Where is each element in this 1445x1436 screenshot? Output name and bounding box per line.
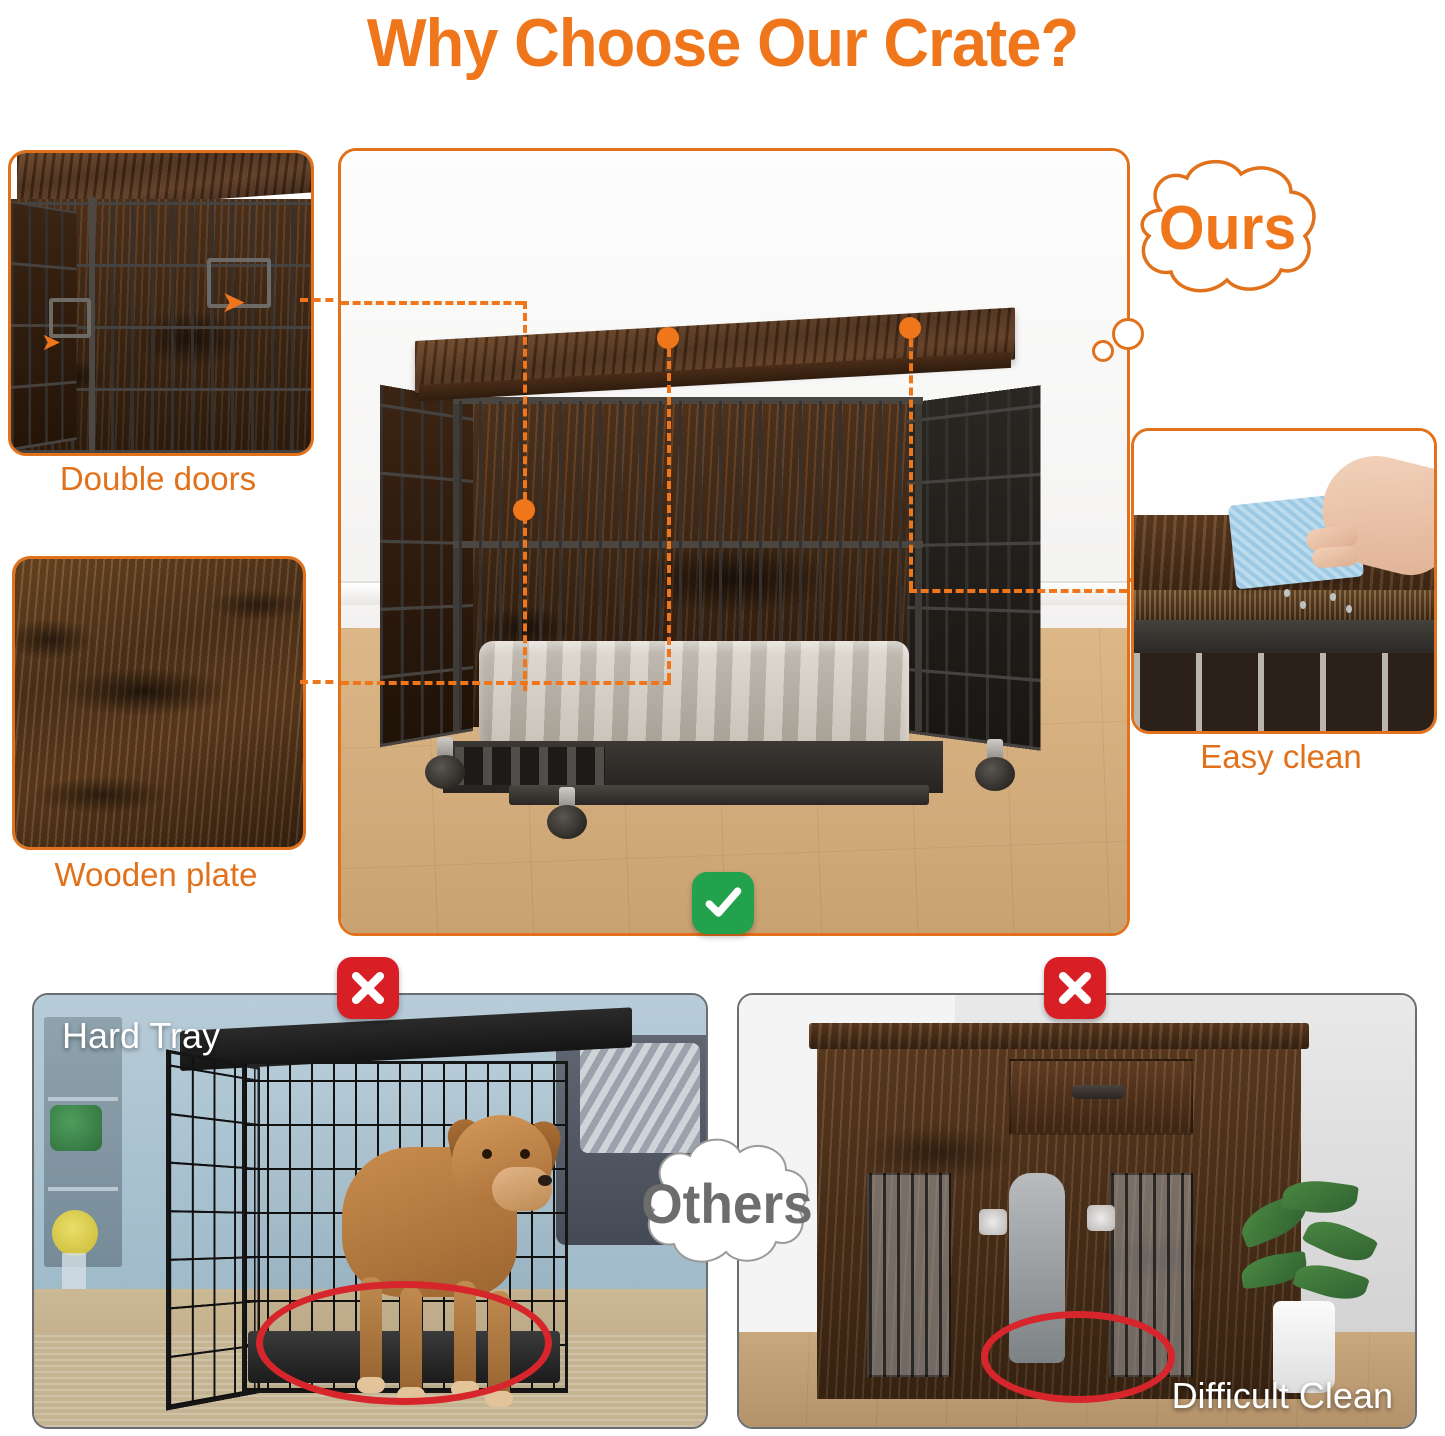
crate-base-slats — [455, 747, 605, 785]
crate-frame-rail — [1134, 620, 1434, 653]
caster-wheel-disc — [425, 755, 465, 789]
ours-bubble-label: Ours — [1111, 148, 1344, 308]
others-speech-bubble: Others — [614, 1128, 840, 1278]
glass-vase — [62, 1253, 86, 1293]
feature-image-easy-clean — [1131, 428, 1437, 734]
callout-dot-easyclean — [899, 317, 921, 339]
label-hard-tray: Hard Tray — [62, 1015, 220, 1057]
callout-line-doors-vertical — [523, 301, 527, 691]
caption-double-doors: Double doors — [8, 460, 308, 498]
red-x-badge — [337, 957, 399, 1019]
cabinet-door-mesh-left — [867, 1173, 951, 1377]
green-check-badge — [692, 872, 754, 934]
callout-line-easyclean — [909, 327, 913, 589]
potted-plant — [1231, 1163, 1381, 1393]
caster-wheel — [975, 739, 1015, 791]
feature-image-double-doors: ➤ ➤ — [8, 150, 314, 456]
dog-snout — [492, 1167, 552, 1211]
arrow-pointer-icon: ➤ — [41, 331, 61, 355]
wood-texture-swatch — [15, 559, 303, 847]
yellow-flowers — [52, 1210, 98, 1256]
ours-speech-bubble: Ours — [1105, 148, 1350, 308]
shelf-board — [48, 1097, 118, 1101]
caption-easy-clean: Easy clean — [1131, 738, 1431, 776]
water-droplet — [1284, 589, 1290, 597]
comparison-image-hard-tray: Hard Tray — [32, 993, 708, 1429]
easy-clean-scene — [1134, 431, 1434, 731]
door-latch-left — [979, 1209, 1007, 1235]
shelf-board — [48, 1187, 118, 1191]
caster-wheel-disc — [975, 757, 1015, 791]
arrow-pointer-icon: ➤ — [221, 288, 246, 318]
water-droplet — [1300, 601, 1306, 609]
feature-image-wooden-plate — [12, 556, 306, 850]
water-droplet — [1330, 593, 1336, 601]
crate-right-wire-door — [907, 385, 1041, 751]
callout-dot-doors — [513, 499, 535, 521]
callout-dot-woodtop — [657, 327, 679, 349]
callout-line-plate — [341, 681, 671, 685]
red-x-badge — [1044, 957, 1106, 1019]
bubble-trail-dot — [1092, 340, 1114, 362]
caption-wooden-plate: Wooden plate — [12, 856, 300, 894]
water-droplet — [1346, 605, 1352, 613]
dog-eye — [520, 1149, 530, 1159]
bubble-trail-dot — [1112, 318, 1144, 350]
dog-crate-furniture — [359, 341, 1039, 811]
page-title: Why Choose Our Crate? — [51, 0, 1395, 86]
crate-slats — [1134, 653, 1434, 731]
finger — [1311, 545, 1358, 568]
green-decor-item — [50, 1105, 102, 1151]
callout-line-woodtop — [667, 337, 671, 681]
red-highlight-ellipse — [256, 1281, 552, 1405]
cabinet-top-surface — [809, 1023, 1309, 1049]
dog-nose — [538, 1175, 552, 1186]
drawer-handle — [1071, 1085, 1125, 1099]
wire-mesh-horizontal — [907, 385, 1041, 751]
crate-post-right — [915, 397, 922, 731]
callout-line-doors — [341, 301, 523, 305]
room-scene — [341, 151, 1127, 933]
caster-wheel — [425, 737, 465, 789]
dog-cushion-bed — [479, 641, 909, 751]
caster-wheel-disc — [547, 805, 587, 839]
red-highlight-ellipse — [981, 1311, 1175, 1403]
others-bubble-label: Others — [620, 1128, 835, 1278]
door-latch-right — [1087, 1205, 1115, 1231]
plant-leaf — [1302, 1211, 1379, 1270]
double-doors-scene: ➤ ➤ — [11, 153, 311, 453]
label-difficult-clean: Difficult Clean — [1172, 1375, 1393, 1417]
main-product-image — [338, 148, 1130, 936]
caster-wheel — [547, 787, 587, 839]
dog-eye — [482, 1149, 492, 1159]
callout-line-easyclean-horizontal — [909, 589, 1127, 593]
